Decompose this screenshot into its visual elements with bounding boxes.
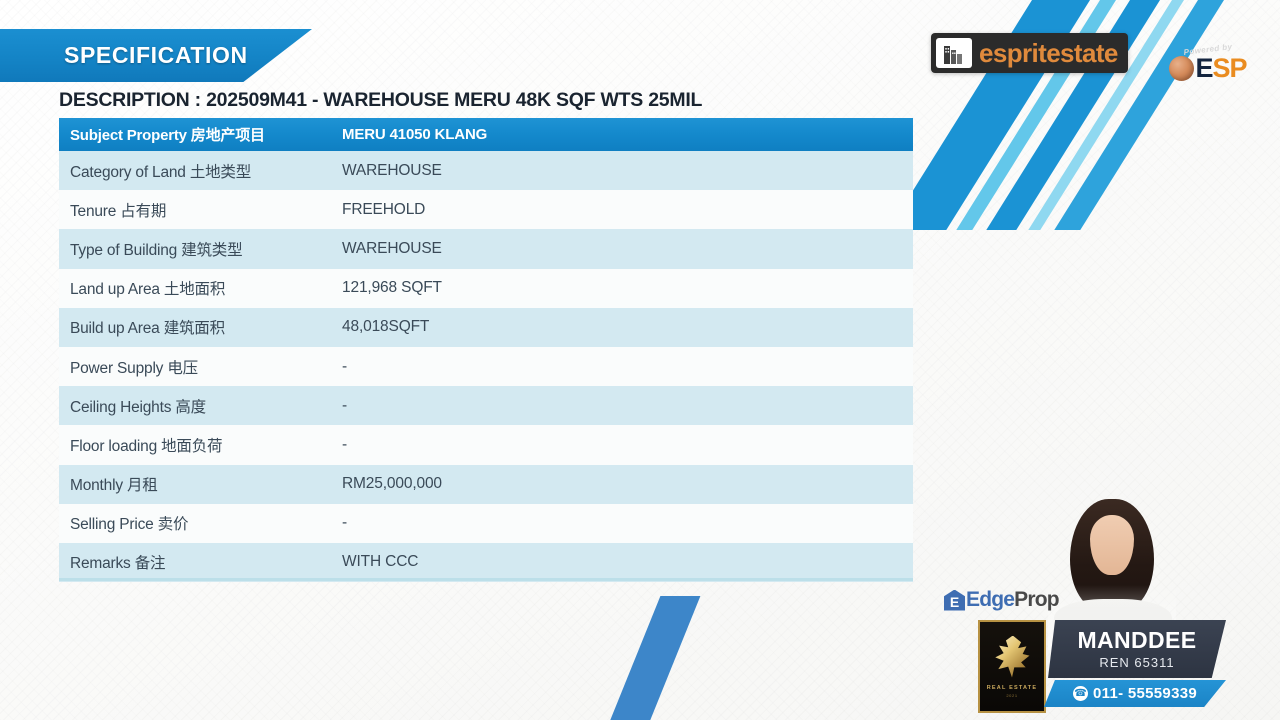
table-row-label: Category of Land 土地类型: [70, 160, 342, 182]
table-row-label: Build up Area 建筑面积: [70, 316, 342, 338]
building-icon: [936, 38, 972, 68]
edgeprop-wordmark: EdgeProp: [966, 588, 1059, 612]
specification-table: Subject Property 房地产项目MERU 41050 KLANGCa…: [59, 118, 913, 582]
table-row-label: Type of Building 建筑类型: [70, 238, 342, 260]
table-row-label: Land up Area 土地面积: [70, 277, 342, 299]
esp-wordmark: ESP: [1195, 55, 1246, 82]
table-row: Build up Area 建筑面积 48,018SQFT: [59, 308, 913, 347]
table-row: Selling Price 卖价-: [59, 504, 913, 543]
agent-phone-bar[interactable]: ☎ 011- 55559339: [1044, 680, 1226, 707]
table-row-value: WAREHOUSE: [342, 162, 442, 180]
phone-icon: ☎: [1073, 686, 1088, 701]
table-row-label: Ceiling Heights 高度: [70, 395, 342, 417]
table-row-label: Tenure 占有期: [70, 199, 342, 221]
wing-icon: [993, 636, 1031, 678]
table-row: Type of Building 建筑类型 WAREHOUSE: [59, 229, 913, 268]
table-row: Power Supply 电压-: [59, 347, 913, 386]
esp-lockup: ESP: [1160, 55, 1256, 82]
table-row-value: -: [342, 358, 347, 376]
edgeprop-watermark: E EdgeProp: [944, 588, 1059, 612]
agent-phone-number: 011- 55559339: [1093, 685, 1197, 702]
table-row-label: Power Supply 电压: [70, 356, 342, 378]
table-row-label: Monthly 月租: [70, 473, 342, 495]
globe-icon: [1169, 56, 1194, 81]
table-row: Ceiling Heights 高度-: [59, 386, 913, 425]
agency-emblem-sub: 2021: [1006, 693, 1017, 698]
edgeprop-name-first: Edge: [966, 588, 1014, 611]
table-row: Tenure 占有期FREEHOLD: [59, 190, 913, 229]
table-row-value: WAREHOUSE: [342, 240, 442, 258]
table-header-row: Subject Property 房地产项目MERU 41050 KLANG: [59, 118, 913, 151]
stripe: [580, 596, 701, 720]
table-row-label: Floor loading 地面负荷: [70, 434, 342, 456]
table-row-value: 121,968 SQFT: [342, 279, 442, 297]
table-row-value: -: [342, 397, 347, 415]
edgeprop-badge-letter: E: [950, 595, 959, 609]
table-row-label: Remarks 备注: [70, 551, 342, 573]
table-row-value: MERU 41050 KLANG: [342, 126, 487, 143]
table-row: Monthly 月租RM25,000,000: [59, 465, 913, 504]
table-row-value: WITH CCC: [342, 553, 418, 571]
powered-by-esp: Powered by ESP: [1160, 45, 1256, 82]
agent-contact-card: REAL ESTATE 2021 MANDDEE REN 65311 ☎ 011…: [978, 620, 1226, 713]
table-row: Land up Area 土地面积121,968 SQFT: [59, 269, 913, 308]
decorative-stripe-bottom-left: [560, 596, 820, 720]
table-row-value: -: [342, 514, 347, 532]
agency-emblem-label: REAL ESTATE: [987, 685, 1037, 691]
espritestate-logo: espritestate: [931, 33, 1128, 73]
table-row-value: -: [342, 436, 347, 454]
description-heading: DESCRIPTION : 202509M41 - WAREHOUSE MERU…: [59, 89, 702, 112]
table-row: Category of Land 土地类型WAREHOUSE: [59, 151, 913, 190]
esp-letters-sp: SP: [1212, 53, 1246, 83]
table-row-label: Selling Price 卖价: [70, 512, 342, 534]
esp-letter-e: E: [1195, 53, 1212, 83]
table-row: Floor loading 地面负荷-: [59, 425, 913, 464]
table-row: Remarks 备注WITH CCC: [59, 543, 913, 582]
agent-nameplate: MANDDEE REN 65311: [1048, 620, 1226, 678]
agency-emblem: REAL ESTATE 2021: [978, 620, 1046, 713]
table-row-value: 48,018SQFT: [342, 318, 429, 336]
table-underline: [59, 578, 913, 581]
agent-ren-number: REN 65311: [1099, 655, 1174, 670]
house-icon: E: [944, 590, 965, 611]
table-row-label: Subject Property 房地产项目: [70, 124, 342, 145]
table-row-value: RM25,000,000: [342, 475, 442, 493]
specification-banner-label: SPECIFICATION: [64, 42, 248, 69]
agent-name: MANDDEE: [1077, 629, 1196, 652]
table-row-value: FREEHOLD: [342, 201, 425, 219]
espritestate-wordmark: espritestate: [979, 38, 1118, 69]
edgeprop-name-second: Prop: [1014, 588, 1059, 611]
